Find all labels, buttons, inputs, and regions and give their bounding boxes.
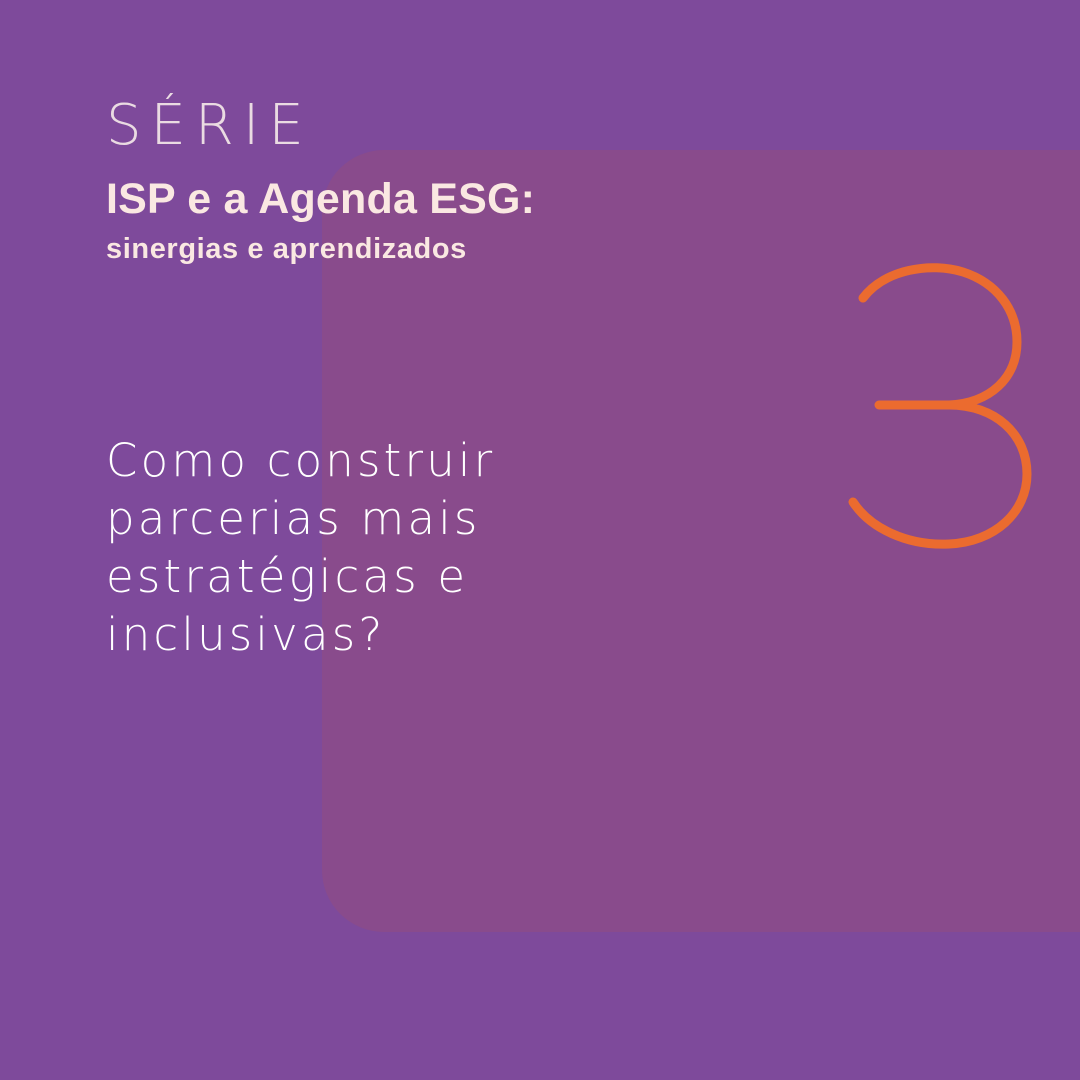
question-line-1: Como construir bbox=[106, 432, 646, 490]
series-subtitle: sinergias e aprendizados bbox=[106, 234, 746, 266]
header-block: SÉRIE ISP e a Agenda ESG: sinergias e ap… bbox=[106, 98, 746, 266]
question-line-2: parcerias mais bbox=[106, 490, 646, 548]
series-title: ISP e a Agenda ESG: bbox=[106, 177, 746, 222]
question-text: Como construir parcerias mais estratégic… bbox=[106, 432, 646, 664]
numeral-three-icon bbox=[845, 262, 1045, 554]
series-kicker: SÉRIE bbox=[106, 98, 746, 154]
question-line-3: estratégicas e bbox=[106, 548, 646, 606]
slide-canvas: SÉRIE ISP e a Agenda ESG: sinergias e ap… bbox=[0, 0, 1080, 1080]
step-number-badge bbox=[845, 262, 1045, 554]
question-line-4: inclusivas? bbox=[106, 606, 646, 664]
